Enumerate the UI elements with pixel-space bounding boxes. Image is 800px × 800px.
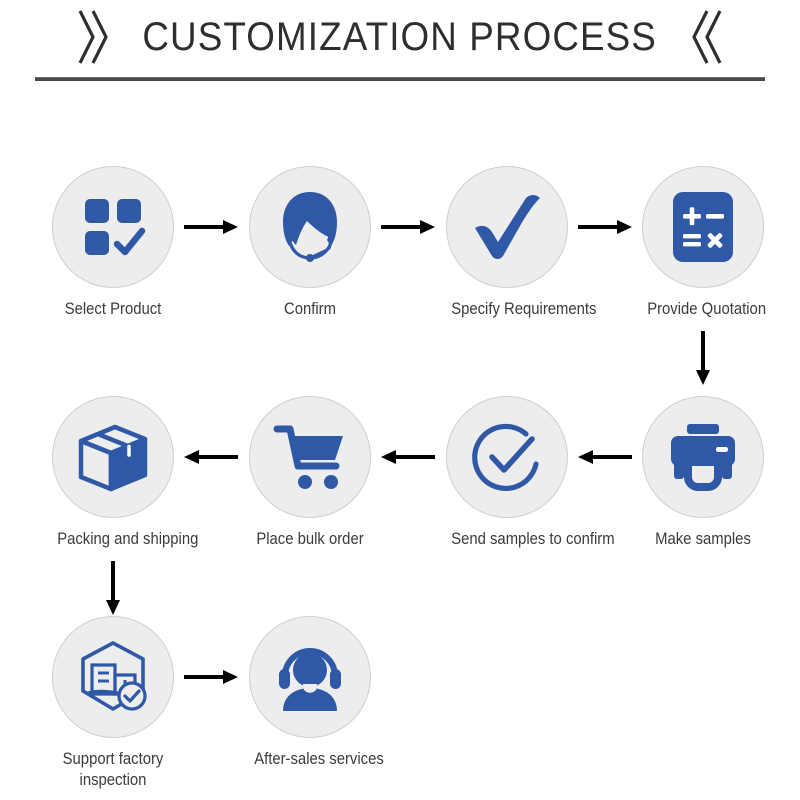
step-label: Packing and shipping	[57, 529, 169, 550]
customization-process-infographic: CUSTOMIZATION PROCESS Select Product	[0, 0, 800, 800]
step-confirm[interactable]: Confirm	[248, 166, 372, 320]
step-select-product[interactable]: Select Product	[51, 166, 175, 320]
step-label: Specify Requirements	[451, 299, 563, 320]
arrow-down-1	[694, 331, 712, 385]
arrow-right-3	[578, 218, 632, 236]
step-icon-circle	[446, 396, 568, 518]
step-icon-circle	[642, 166, 764, 288]
step-label: After-sales services	[254, 749, 366, 770]
title-row: CUSTOMIZATION PROCESS	[0, 8, 800, 66]
step-icon-circle	[249, 166, 371, 288]
arrow-left-1	[578, 448, 632, 466]
step-make-samples[interactable]: Make samples	[641, 396, 765, 550]
grid-check-icon	[80, 194, 146, 260]
step-icon-circle	[642, 396, 764, 518]
step-provide-quotation[interactable]: Provide Quotation	[641, 166, 765, 320]
printer-icon	[666, 421, 740, 493]
step-send-samples[interactable]: Send samples to confirm	[445, 396, 569, 550]
step-label: Confirm	[254, 299, 366, 320]
step-place-bulk-order[interactable]: Place bulk order	[248, 396, 372, 550]
step-label: Support factory inspection	[57, 749, 169, 791]
step-label: Make samples	[647, 529, 759, 550]
header: CUSTOMIZATION PROCESS	[0, 0, 800, 95]
arrow-left-3	[184, 448, 238, 466]
shopping-cart-icon	[273, 422, 347, 492]
calculator-icon	[669, 188, 737, 266]
step-icon-circle	[249, 616, 371, 738]
step-icon-circle	[446, 166, 568, 288]
step-icon-circle	[52, 616, 174, 738]
checkmark-icon	[470, 190, 544, 264]
step-specify-requirements[interactable]: Specify Requirements	[445, 166, 569, 320]
step-icon-circle	[52, 166, 174, 288]
package-box-icon	[77, 421, 149, 493]
step-label: Provide Quotation	[647, 299, 759, 320]
step-icon-circle	[52, 396, 174, 518]
double-chevron-right-icon	[76, 9, 110, 65]
step-factory-inspection[interactable]: Support factory inspection	[51, 616, 175, 791]
step-label: Select Product	[57, 299, 169, 320]
arrow-right-4	[184, 668, 238, 686]
circle-check-icon	[470, 420, 544, 494]
step-after-sales[interactable]: After-sales services	[248, 616, 372, 770]
title-divider	[35, 77, 765, 81]
arrow-right-2	[381, 218, 435, 236]
page-title: CUSTOMIZATION PROCESS	[143, 15, 658, 60]
arrow-left-2	[381, 448, 435, 466]
headset-person-icon	[274, 643, 346, 711]
step-label: Send samples to confirm	[451, 529, 563, 550]
factory-shield-check-icon	[75, 639, 151, 715]
arrow-right-1	[184, 218, 238, 236]
step-packing-shipping[interactable]: Packing and shipping	[51, 396, 175, 550]
arrow-down-2	[104, 561, 122, 615]
step-label: Place bulk order	[254, 529, 366, 550]
double-chevron-left-icon	[690, 9, 724, 65]
step-icon-circle	[249, 396, 371, 518]
support-agent-icon	[271, 188, 349, 266]
